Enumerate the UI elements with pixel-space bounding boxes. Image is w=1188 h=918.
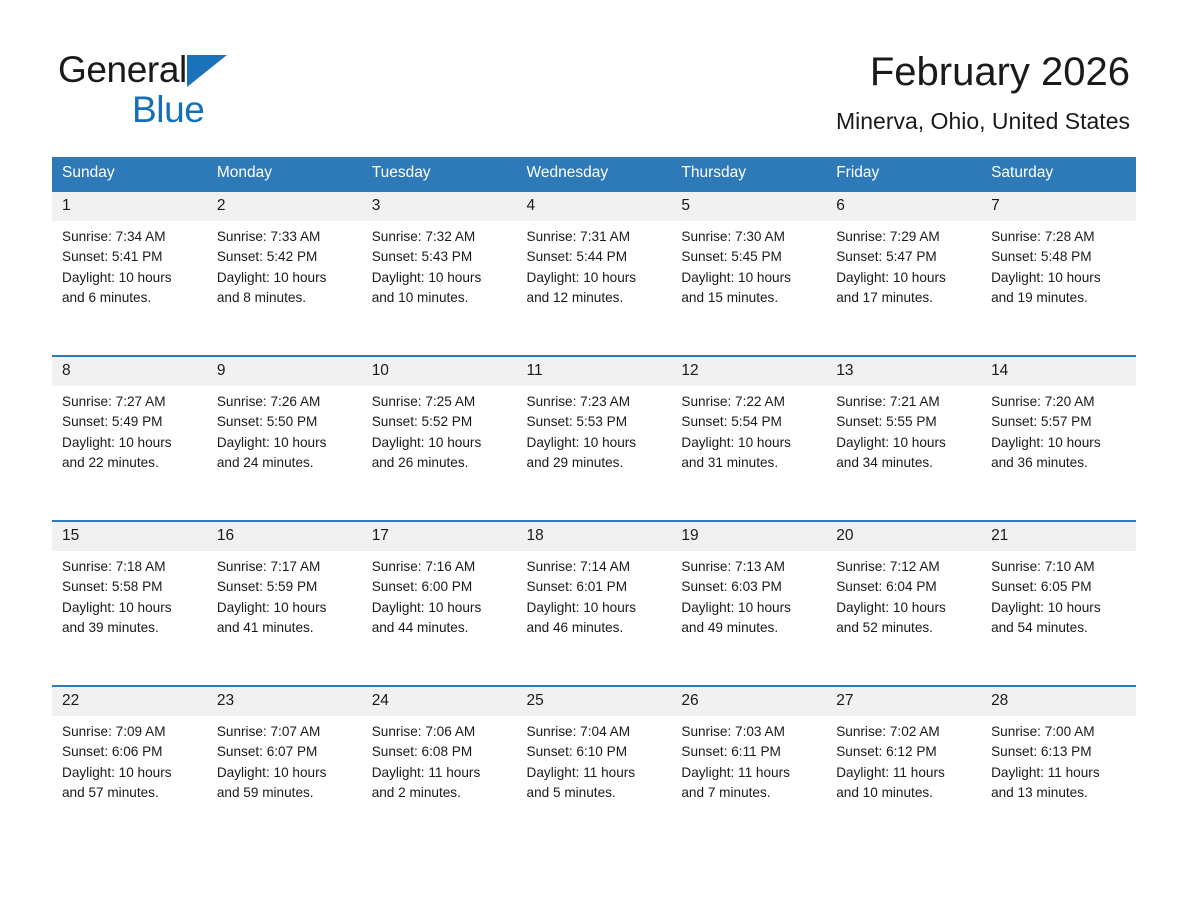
day-number: 20 <box>826 522 981 551</box>
daylight-text: Daylight: 10 hours and 36 minutes. <box>991 433 1126 474</box>
day-number: 11 <box>517 357 672 386</box>
daylight-text: Daylight: 11 hours and 5 minutes. <box>527 763 662 804</box>
sunset-text: Sunset: 6:00 PM <box>372 577 507 597</box>
daylight-text: Daylight: 10 hours and 15 minutes. <box>681 268 816 309</box>
day-cell[interactable]: 19Sunrise: 7:13 AMSunset: 6:03 PMDayligh… <box>671 521 826 686</box>
sunset-text: Sunset: 5:58 PM <box>62 577 197 597</box>
daylight-text: Daylight: 10 hours and 41 minutes. <box>217 598 352 639</box>
sunset-text: Sunset: 6:10 PM <box>527 742 662 762</box>
daylight-text: Daylight: 10 hours and 44 minutes. <box>372 598 507 639</box>
day-cell[interactable]: 21Sunrise: 7:10 AMSunset: 6:05 PMDayligh… <box>981 521 1136 686</box>
day-number: 17 <box>362 522 517 551</box>
daylight-text: Daylight: 10 hours and 54 minutes. <box>991 598 1126 639</box>
day-cell[interactable]: 20Sunrise: 7:12 AMSunset: 6:04 PMDayligh… <box>826 521 981 686</box>
day-number: 27 <box>826 687 981 716</box>
day-cell[interactable]: 16Sunrise: 7:17 AMSunset: 5:59 PMDayligh… <box>207 521 362 686</box>
day-number: 3 <box>362 192 517 221</box>
day-number: 12 <box>671 357 826 386</box>
day-cell[interactable]: 5Sunrise: 7:30 AMSunset: 5:45 PMDaylight… <box>671 191 826 356</box>
sunset-text: Sunset: 5:50 PM <box>217 412 352 432</box>
sunrise-text: Sunrise: 7:18 AM <box>62 557 197 577</box>
logo-triangle-icon <box>187 55 227 87</box>
daylight-text: Daylight: 10 hours and 22 minutes. <box>62 433 197 474</box>
general-blue-logo[interactable]: General Blue <box>58 50 438 136</box>
sunset-text: Sunset: 5:52 PM <box>372 412 507 432</box>
daylight-text: Daylight: 10 hours and 49 minutes. <box>681 598 816 639</box>
sunrise-text: Sunrise: 7:30 AM <box>681 227 816 247</box>
day-number: 5 <box>671 192 826 221</box>
sunrise-text: Sunrise: 7:28 AM <box>991 227 1126 247</box>
day-number: 28 <box>981 687 1136 716</box>
daylight-text: Daylight: 10 hours and 31 minutes. <box>681 433 816 474</box>
sunset-text: Sunset: 5:43 PM <box>372 247 507 267</box>
day-cell[interactable]: 23Sunrise: 7:07 AMSunset: 6:07 PMDayligh… <box>207 686 362 850</box>
sunset-text: Sunset: 6:12 PM <box>836 742 971 762</box>
sunset-text: Sunset: 6:03 PM <box>681 577 816 597</box>
day-number: 22 <box>52 687 207 716</box>
sunset-text: Sunset: 6:13 PM <box>991 742 1126 762</box>
day-number: 26 <box>671 687 826 716</box>
sunrise-text: Sunrise: 7:07 AM <box>217 722 352 742</box>
day-number: 9 <box>207 357 362 386</box>
day-number: 1 <box>52 192 207 221</box>
week-row: 22Sunrise: 7:09 AMSunset: 6:06 PMDayligh… <box>52 686 1136 850</box>
sunset-text: Sunset: 5:53 PM <box>527 412 662 432</box>
day-cell[interactable]: 27Sunrise: 7:02 AMSunset: 6:12 PMDayligh… <box>826 686 981 850</box>
day-number: 13 <box>826 357 981 386</box>
day-cell[interactable]: 25Sunrise: 7:04 AMSunset: 6:10 PMDayligh… <box>517 686 672 850</box>
calendar-body: 1Sunrise: 7:34 AMSunset: 5:41 PMDaylight… <box>52 191 1136 850</box>
day-cell[interactable]: 17Sunrise: 7:16 AMSunset: 6:00 PMDayligh… <box>362 521 517 686</box>
sunset-text: Sunset: 5:49 PM <box>62 412 197 432</box>
sunrise-text: Sunrise: 7:26 AM <box>217 392 352 412</box>
daylight-text: Daylight: 11 hours and 10 minutes. <box>836 763 971 804</box>
day-cell[interactable]: 9Sunrise: 7:26 AMSunset: 5:50 PMDaylight… <box>207 356 362 521</box>
day-number: 4 <box>517 192 672 221</box>
title-block: February 2026 Minerva, Ohio, United Stat… <box>430 48 1130 136</box>
daylight-text: Daylight: 10 hours and 34 minutes. <box>836 433 971 474</box>
day-cell[interactable]: 28Sunrise: 7:00 AMSunset: 6:13 PMDayligh… <box>981 686 1136 850</box>
sunset-text: Sunset: 5:59 PM <box>217 577 352 597</box>
day-cell[interactable]: 3Sunrise: 7:32 AMSunset: 5:43 PMDaylight… <box>362 191 517 356</box>
sunset-text: Sunset: 5:45 PM <box>681 247 816 267</box>
daylight-text: Daylight: 10 hours and 17 minutes. <box>836 268 971 309</box>
sunrise-text: Sunrise: 7:21 AM <box>836 392 971 412</box>
daylight-text: Daylight: 10 hours and 52 minutes. <box>836 598 971 639</box>
sunrise-text: Sunrise: 7:12 AM <box>836 557 971 577</box>
daylight-text: Daylight: 10 hours and 46 minutes. <box>527 598 662 639</box>
weekday-header-tuesday: Tuesday <box>362 157 517 191</box>
sunrise-text: Sunrise: 7:13 AM <box>681 557 816 577</box>
sunrise-text: Sunrise: 7:27 AM <box>62 392 197 412</box>
week-row: 1Sunrise: 7:34 AMSunset: 5:41 PMDaylight… <box>52 191 1136 356</box>
day-cell[interactable]: 24Sunrise: 7:06 AMSunset: 6:08 PMDayligh… <box>362 686 517 850</box>
sunset-text: Sunset: 5:54 PM <box>681 412 816 432</box>
logo-text-blue: Blue <box>132 88 204 132</box>
sunrise-text: Sunrise: 7:00 AM <box>991 722 1126 742</box>
day-number: 2 <box>207 192 362 221</box>
week-row: 8Sunrise: 7:27 AMSunset: 5:49 PMDaylight… <box>52 356 1136 521</box>
day-number: 21 <box>981 522 1136 551</box>
day-cell[interactable]: 15Sunrise: 7:18 AMSunset: 5:58 PMDayligh… <box>52 521 207 686</box>
day-number: 23 <box>207 687 362 716</box>
sunset-text: Sunset: 6:06 PM <box>62 742 197 762</box>
logo-text-general: General <box>58 50 187 90</box>
daylight-text: Daylight: 10 hours and 6 minutes. <box>62 268 197 309</box>
logo-top-row: General <box>58 50 438 94</box>
daylight-text: Daylight: 10 hours and 59 minutes. <box>217 763 352 804</box>
day-number: 25 <box>517 687 672 716</box>
daylight-text: Daylight: 10 hours and 39 minutes. <box>62 598 197 639</box>
weekday-header-monday: Monday <box>207 157 362 191</box>
daylight-text: Daylight: 10 hours and 29 minutes. <box>527 433 662 474</box>
sunrise-text: Sunrise: 7:17 AM <box>217 557 352 577</box>
daylight-text: Daylight: 10 hours and 10 minutes. <box>372 268 507 309</box>
day-cell[interactable]: 18Sunrise: 7:14 AMSunset: 6:01 PMDayligh… <box>517 521 672 686</box>
sunrise-text: Sunrise: 7:06 AM <box>372 722 507 742</box>
sunrise-text: Sunrise: 7:32 AM <box>372 227 507 247</box>
day-cell[interactable]: 13Sunrise: 7:21 AMSunset: 5:55 PMDayligh… <box>826 356 981 521</box>
daylight-text: Daylight: 10 hours and 24 minutes. <box>217 433 352 474</box>
calendar-header-row: Sunday Monday Tuesday Wednesday Thursday… <box>52 157 1136 191</box>
weekday-header-friday: Friday <box>826 157 981 191</box>
weekday-header-thursday: Thursday <box>671 157 826 191</box>
page-header: General Blue February 2026 Minerva, Ohio… <box>0 0 1188 155</box>
sunrise-text: Sunrise: 7:03 AM <box>681 722 816 742</box>
sunrise-text: Sunrise: 7:02 AM <box>836 722 971 742</box>
weekday-header-row: Sunday Monday Tuesday Wednesday Thursday… <box>52 157 1136 191</box>
daylight-text: Daylight: 11 hours and 2 minutes. <box>372 763 507 804</box>
day-cell[interactable]: 2Sunrise: 7:33 AMSunset: 5:42 PMDaylight… <box>207 191 362 356</box>
calendar-page: General Blue February 2026 Minerva, Ohio… <box>0 0 1188 918</box>
page-title: February 2026 <box>430 48 1130 96</box>
day-cell[interactable]: 1Sunrise: 7:34 AMSunset: 5:41 PMDaylight… <box>52 191 207 356</box>
sunrise-text: Sunrise: 7:29 AM <box>836 227 971 247</box>
day-cell[interactable]: 12Sunrise: 7:22 AMSunset: 5:54 PMDayligh… <box>671 356 826 521</box>
sunrise-text: Sunrise: 7:16 AM <box>372 557 507 577</box>
page-subtitle: Minerva, Ohio, United States <box>430 106 1130 136</box>
day-number: 15 <box>52 522 207 551</box>
daylight-text: Daylight: 10 hours and 19 minutes. <box>991 268 1126 309</box>
day-number: 24 <box>362 687 517 716</box>
sunset-text: Sunset: 5:44 PM <box>527 247 662 267</box>
weekday-header-wednesday: Wednesday <box>517 157 672 191</box>
day-number: 6 <box>826 192 981 221</box>
sunset-text: Sunset: 6:11 PM <box>681 742 816 762</box>
day-number: 16 <box>207 522 362 551</box>
sunrise-text: Sunrise: 7:23 AM <box>527 392 662 412</box>
sunset-text: Sunset: 6:07 PM <box>217 742 352 762</box>
day-cell[interactable]: 11Sunrise: 7:23 AMSunset: 5:53 PMDayligh… <box>517 356 672 521</box>
sunrise-text: Sunrise: 7:31 AM <box>527 227 662 247</box>
sunset-text: Sunset: 5:55 PM <box>836 412 971 432</box>
day-cell[interactable]: 26Sunrise: 7:03 AMSunset: 6:11 PMDayligh… <box>671 686 826 850</box>
day-number: 8 <box>52 357 207 386</box>
sunrise-text: Sunrise: 7:20 AM <box>991 392 1126 412</box>
day-cell[interactable]: 22Sunrise: 7:09 AMSunset: 6:06 PMDayligh… <box>52 686 207 850</box>
daylight-text: Daylight: 10 hours and 57 minutes. <box>62 763 197 804</box>
day-number: 14 <box>981 357 1136 386</box>
daylight-text: Daylight: 11 hours and 7 minutes. <box>681 763 816 804</box>
sunrise-text: Sunrise: 7:33 AM <box>217 227 352 247</box>
sunset-text: Sunset: 6:04 PM <box>836 577 971 597</box>
sunrise-text: Sunrise: 7:25 AM <box>372 392 507 412</box>
daylight-text: Daylight: 10 hours and 12 minutes. <box>527 268 662 309</box>
day-number: 19 <box>671 522 826 551</box>
sunrise-text: Sunrise: 7:34 AM <box>62 227 197 247</box>
calendar-table: Sunday Monday Tuesday Wednesday Thursday… <box>52 157 1136 850</box>
week-row: 15Sunrise: 7:18 AMSunset: 5:58 PMDayligh… <box>52 521 1136 686</box>
day-number: 7 <box>981 192 1136 221</box>
day-cell[interactable]: 4Sunrise: 7:31 AMSunset: 5:44 PMDaylight… <box>517 191 672 356</box>
daylight-text: Daylight: 10 hours and 8 minutes. <box>217 268 352 309</box>
sunrise-text: Sunrise: 7:09 AM <box>62 722 197 742</box>
sunset-text: Sunset: 5:41 PM <box>62 247 197 267</box>
daylight-text: Daylight: 10 hours and 26 minutes. <box>372 433 507 474</box>
sunset-text: Sunset: 6:08 PM <box>372 742 507 762</box>
daylight-text: Daylight: 11 hours and 13 minutes. <box>991 763 1126 804</box>
sunrise-text: Sunrise: 7:22 AM <box>681 392 816 412</box>
sunset-text: Sunset: 5:57 PM <box>991 412 1126 432</box>
day-number: 10 <box>362 357 517 386</box>
sunset-text: Sunset: 6:05 PM <box>991 577 1126 597</box>
sunrise-text: Sunrise: 7:14 AM <box>527 557 662 577</box>
sunset-text: Sunset: 5:47 PM <box>836 247 971 267</box>
weekday-header-sunday: Sunday <box>52 157 207 191</box>
day-cell[interactable]: 7Sunrise: 7:28 AMSunset: 5:48 PMDaylight… <box>981 191 1136 356</box>
day-cell[interactable]: 14Sunrise: 7:20 AMSunset: 5:57 PMDayligh… <box>981 356 1136 521</box>
day-number: 18 <box>517 522 672 551</box>
sunset-text: Sunset: 5:42 PM <box>217 247 352 267</box>
sunset-text: Sunset: 5:48 PM <box>991 247 1126 267</box>
sunset-text: Sunset: 6:01 PM <box>527 577 662 597</box>
day-cell[interactable]: 6Sunrise: 7:29 AMSunset: 5:47 PMDaylight… <box>826 191 981 356</box>
weekday-header-saturday: Saturday <box>981 157 1136 191</box>
sunrise-text: Sunrise: 7:10 AM <box>991 557 1126 577</box>
day-cell[interactable]: 8Sunrise: 7:27 AMSunset: 5:49 PMDaylight… <box>52 356 207 521</box>
day-cell[interactable]: 10Sunrise: 7:25 AMSunset: 5:52 PMDayligh… <box>362 356 517 521</box>
sunrise-text: Sunrise: 7:04 AM <box>527 722 662 742</box>
